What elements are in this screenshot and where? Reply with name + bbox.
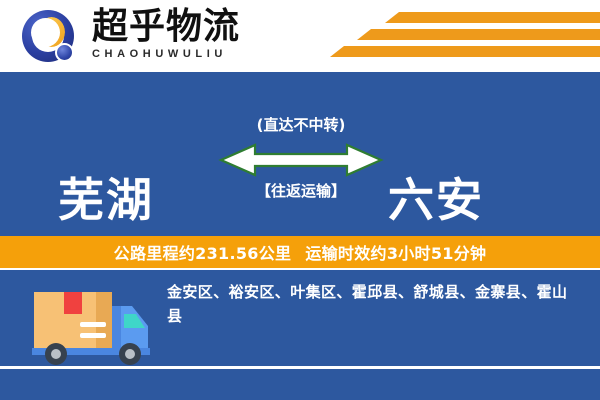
direct-shipping-note: (直达不中转) — [215, 116, 387, 134]
bottom-divider — [0, 366, 600, 369]
route-info-bar: 公路里程约231.56公里 运输时效约3小时51分钟 — [0, 236, 600, 268]
distance-text: 公路里程约231.56公里 — [114, 240, 292, 264]
orange-speed-stripes-icon — [330, 12, 600, 62]
brand-name-pinyin: CHAOHUWULIU — [92, 48, 292, 61]
origin-city: 芜湖 — [58, 175, 154, 225]
stripe-bottom — [330, 46, 600, 57]
banner-header: 超乎物流 CHAOHUWULIU — [0, 0, 600, 72]
roundtrip-note: 【往返运输】 — [215, 182, 387, 200]
delivery-truck-icon — [24, 278, 156, 370]
stripe-middle — [357, 29, 600, 40]
truck-svg — [24, 278, 156, 370]
double-headed-arrow-icon — [215, 140, 387, 180]
route-middle-block: (直达不中转) 【往返运输】 — [215, 116, 387, 234]
brand-name-cn: 超乎物流 — [92, 8, 292, 46]
brand-text-block: 超乎物流 CHAOHUWULIU — [92, 8, 292, 61]
arrow-svg — [217, 142, 385, 178]
logo-accent-dot — [55, 43, 74, 62]
destination-city: 六安 — [388, 175, 484, 225]
logo-crescent-cutout — [31, 18, 60, 47]
coverage-panel: 金安区、裕安区、叶集区、霍邱县、舒城县、金寨县、霍山县 — [0, 270, 600, 400]
duration-text: 运输时效约3小时51分钟 — [305, 240, 486, 264]
stripe-top — [385, 12, 600, 23]
route-panel: 芜湖 (直达不中转) 【往返运输】 六安 — [0, 72, 600, 236]
circle-crescent-logo-icon — [22, 10, 78, 66]
coverage-areas-text: 金安区、裕安区、叶集区、霍邱县、舒城县、金寨县、霍山县 — [167, 280, 577, 328]
logistics-route-banner: 超乎物流 CHAOHUWULIU 芜湖 (直达不中转) 【往返运输】 六安 公路… — [0, 0, 600, 400]
